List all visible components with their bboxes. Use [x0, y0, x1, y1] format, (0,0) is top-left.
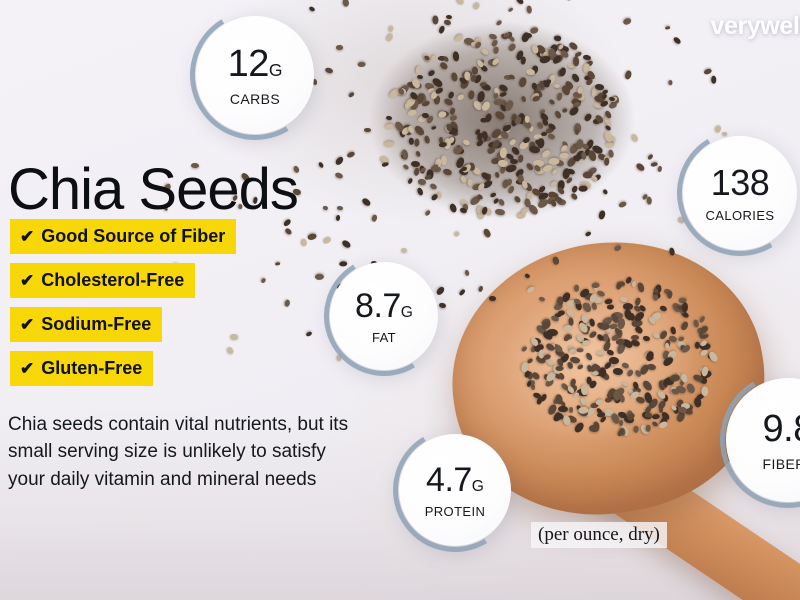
chia-seed [626, 369, 634, 377]
check-icon: ✔ [20, 316, 34, 333]
chia-seed [698, 315, 705, 323]
chia-seed [577, 348, 584, 352]
nutrient-bubble-calories: 138 CALORIES [683, 136, 797, 250]
chia-seed [686, 382, 697, 394]
chia-seed [562, 324, 572, 332]
check-icon: ✔ [20, 228, 34, 245]
page-title: Chia Seeds [8, 161, 298, 219]
chia-seed [558, 311, 566, 317]
benefits-list: ✔ Good Source of Fiber ✔ Cholesterol-Fre… [10, 219, 236, 386]
brand-watermark: verywell [711, 12, 800, 41]
benefit-label: Gluten-Free [41, 359, 142, 377]
chia-seed [576, 364, 584, 371]
benefit-item-1: ✔ Cholesterol-Free [10, 263, 195, 298]
chia-seed [595, 350, 603, 356]
chia-seed [659, 305, 667, 312]
infographic-canvas: verywell Chia Seeds ✔ Good Source of Fib… [0, 0, 800, 600]
chia-seed [637, 281, 646, 292]
check-icon: ✔ [20, 272, 34, 289]
chia-seed [645, 413, 652, 418]
chia-seed [558, 372, 566, 381]
nutrient-bubble-protein: 4.7G PROTEIN [399, 434, 511, 546]
chia-seed [681, 373, 688, 383]
nutrient-bubble-fiber: 9.8G FIBER [726, 378, 800, 502]
chia-seed [591, 302, 597, 310]
chia-seed [580, 384, 587, 395]
chia-seed [642, 379, 654, 392]
chia-seed [521, 345, 528, 352]
chia-seed [612, 367, 623, 375]
chia-seed [562, 332, 571, 342]
nutrient-bubble-fat: 8.7G FAT [330, 262, 438, 370]
serving-size-caption: (per ounce, dry) [531, 522, 667, 548]
chia-seed [584, 352, 593, 362]
benefit-label: Good Source of Fiber [41, 227, 225, 245]
nutrient-bubble-carbs: 12G CARBS [196, 16, 314, 134]
chia-seed [586, 376, 592, 384]
chia-seed [556, 366, 564, 371]
chia-seed [557, 296, 563, 305]
chia-seed [565, 308, 575, 318]
chia-seed [652, 414, 660, 420]
chia-seed [574, 284, 579, 292]
chia-seed [695, 341, 700, 348]
chia-seed [646, 424, 651, 431]
chia-seed [707, 350, 718, 363]
chia-seed [619, 297, 627, 303]
chia-seed [569, 407, 573, 413]
chia-seed [692, 319, 699, 328]
benefit-item-2: ✔ Sodium-Free [10, 307, 162, 342]
chia-seed [589, 318, 596, 327]
chia-seed [530, 384, 535, 391]
chia-seed [665, 343, 670, 350]
benefit-label: Cholesterol-Free [41, 271, 184, 289]
chia-seed [631, 335, 639, 341]
chia-seed [651, 420, 658, 427]
chia-seed [642, 335, 650, 341]
description-text: Chia seeds contain vital nutrients, but … [8, 411, 368, 493]
chia-seed [621, 362, 629, 369]
chia-seed [701, 386, 708, 396]
chia-seed [631, 281, 636, 287]
benefit-item-0: ✔ Good Source of Fiber [10, 219, 236, 254]
chia-seed [596, 398, 604, 405]
benefit-label: Sodium-Free [41, 315, 151, 333]
chia-seed [622, 381, 630, 388]
chia-seed [623, 303, 633, 310]
chia-seed [605, 298, 613, 304]
chia-seed [693, 397, 701, 408]
chia-seed [680, 321, 690, 332]
chia-seed [634, 325, 644, 335]
chia-seed [609, 356, 620, 364]
chia-seed [581, 301, 592, 313]
chia-seed [634, 426, 639, 433]
benefit-item-3: ✔ Gluten-Free [10, 351, 153, 386]
chia-seed [582, 339, 591, 346]
check-icon: ✔ [20, 360, 34, 377]
chia-seed [681, 302, 688, 312]
chia-seed [567, 362, 574, 370]
chia-seed [670, 374, 681, 382]
chia-seed [588, 330, 597, 339]
chia-seed [667, 290, 673, 298]
chia-seed [607, 305, 614, 310]
chia-seed [653, 294, 658, 301]
chia-seed [597, 289, 606, 297]
chia-seed [669, 326, 676, 335]
